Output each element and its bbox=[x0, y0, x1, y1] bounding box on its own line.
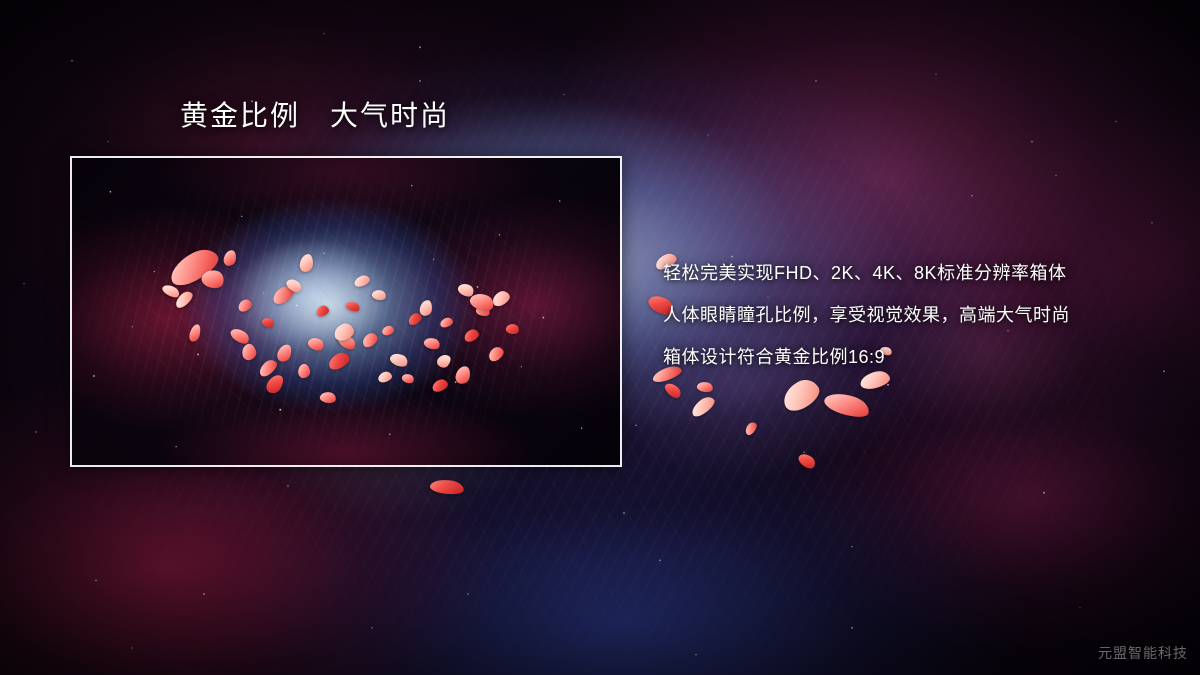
page-title: 黄金比例 大气时尚 bbox=[180, 102, 450, 130]
framed-photo bbox=[70, 156, 622, 467]
body-line-2: 人体眼睛瞳孔比例，享受视觉效果，高端大气时尚 bbox=[663, 294, 1070, 336]
photo-starfield bbox=[72, 158, 620, 465]
presentation-slide: 黄金比例 大气时尚 轻松完美实现FHD、2K、4K、8K标准分辨率箱体 人体眼睛… bbox=[0, 0, 1200, 675]
body-line-1: 轻松完美实现FHD、2K、4K、8K标准分辨率箱体 bbox=[663, 252, 1070, 294]
body-line-3: 箱体设计符合黄金比例16:9 bbox=[663, 336, 1070, 378]
watermark-logo-text: 元盟智能科技 bbox=[1098, 643, 1188, 663]
body-copy: 轻松完美实现FHD、2K、4K、8K标准分辨率箱体 人体眼睛瞳孔比例，享受视觉效… bbox=[663, 252, 1070, 378]
